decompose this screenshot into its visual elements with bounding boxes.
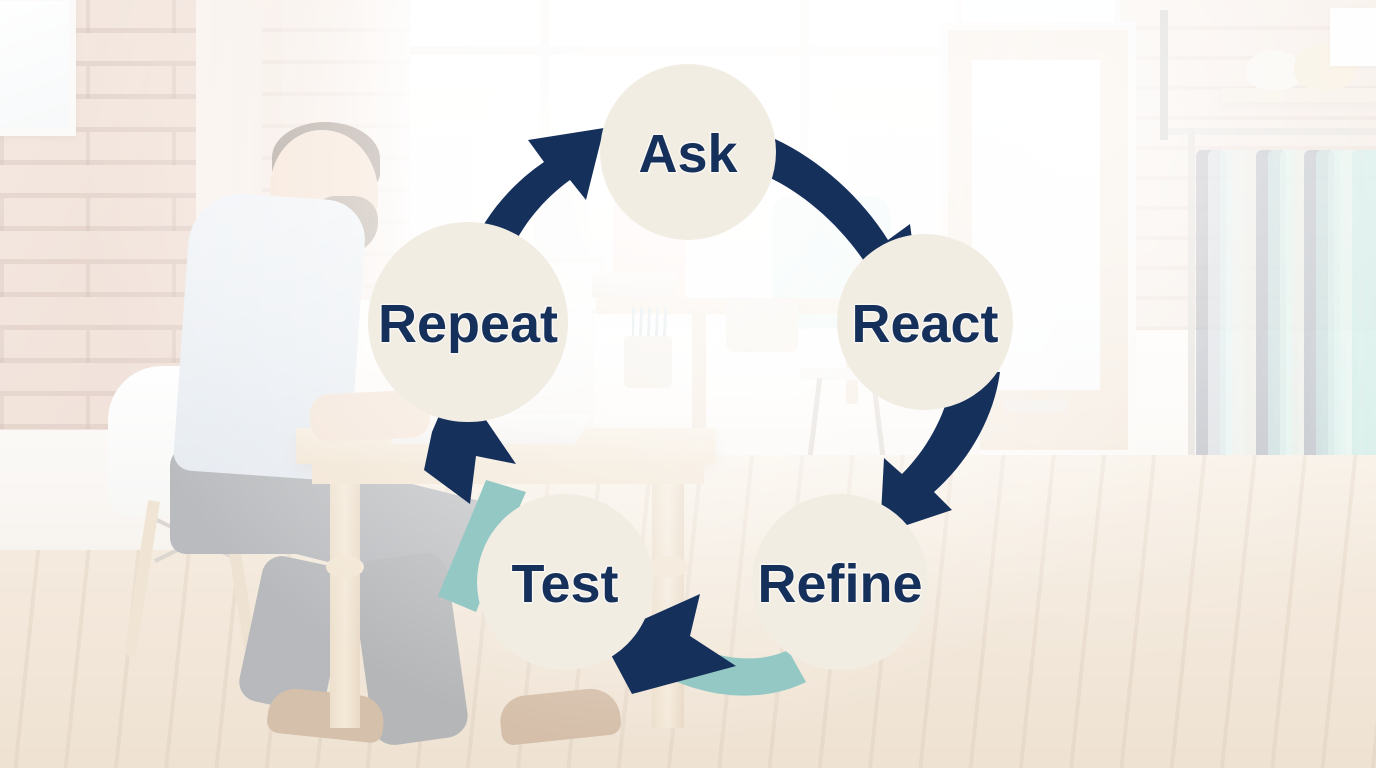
pen-cup <box>624 336 672 388</box>
woven-basket <box>726 300 798 352</box>
rack-upright <box>1160 10 1168 140</box>
node-label-ask: Ask <box>638 124 738 184</box>
cycle-node-refine[interactable]: Refine <box>752 494 928 670</box>
table-leg <box>326 556 364 578</box>
node-label-repeat: Repeat <box>378 294 558 354</box>
table-leg <box>330 478 360 728</box>
window-mullion <box>410 46 970 55</box>
cycle-node-react[interactable]: React <box>837 234 1013 410</box>
book-stack <box>592 272 676 298</box>
back-table-leg <box>692 312 706 428</box>
cycle-node-repeat[interactable]: Repeat <box>368 222 568 422</box>
mail-slot <box>1005 400 1067 412</box>
table-leg <box>648 556 688 578</box>
shelf-sign <box>1330 8 1376 66</box>
hat-shelf <box>1222 88 1376 102</box>
framed-picture <box>0 0 76 136</box>
cycle-node-ask[interactable]: Ask <box>600 64 776 240</box>
node-label-test: Test <box>511 554 618 614</box>
rack-bar <box>1168 128 1376 135</box>
table-apron <box>312 462 704 484</box>
node-label-react: React <box>851 294 998 354</box>
node-label-refine: Refine <box>757 554 922 614</box>
screenshot-canvas: AskReactRefineTestRepeat <box>0 0 1376 768</box>
table-leg <box>652 478 684 728</box>
cycle-node-test[interactable]: Test <box>477 494 653 670</box>
door-transom <box>962 0 1114 34</box>
